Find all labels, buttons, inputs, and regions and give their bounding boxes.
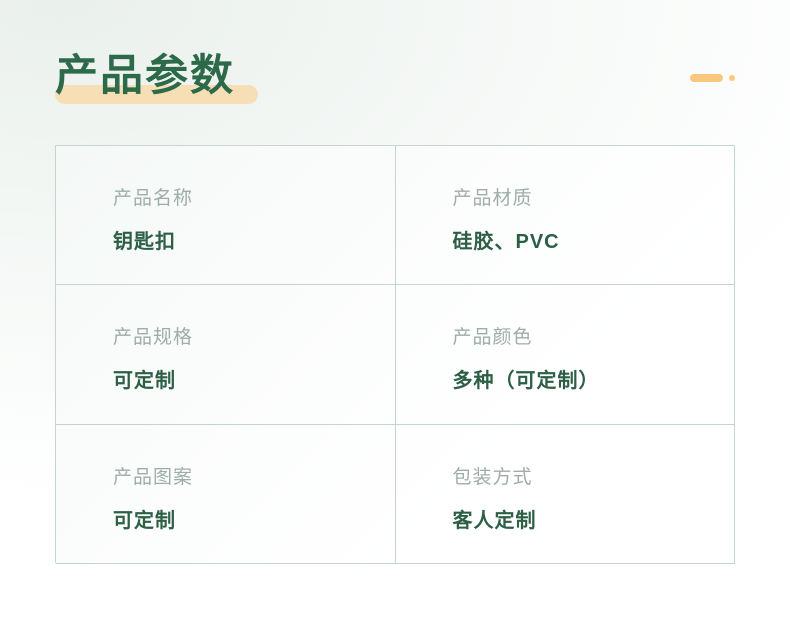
product-spec-table: 产品名称 钥匙扣 产品材质 硅胶、PVC 产品规格 可定制 产品颜色 多种（可定… — [55, 145, 735, 563]
page-header: 产品参数 — [0, 0, 790, 140]
spec-cell-product-pattern: 产品图案 可定制 — [56, 425, 396, 564]
spec-value: 多种（可定制） — [453, 367, 735, 395]
table-row: 产品名称 钥匙扣 产品材质 硅胶、PVC — [56, 146, 735, 285]
spec-value: 可定制 — [113, 507, 395, 535]
spec-cell-product-color: 产品颜色 多种（可定制） — [396, 285, 736, 424]
spec-label: 产品图案 — [113, 465, 395, 491]
spec-label: 产品颜色 — [453, 325, 735, 351]
header-decoration — [690, 72, 735, 84]
spec-value: 可定制 — [113, 367, 395, 395]
spec-cell-product-spec: 产品规格 可定制 — [56, 285, 396, 424]
page-title: 产品参数 — [55, 48, 235, 106]
spec-label: 产品材质 — [453, 186, 735, 212]
spec-label: 包装方式 — [453, 465, 735, 491]
product-spec-page: 产品参数 产品名称 钥匙扣 产品材质 硅胶、PVC 产品规格 可定制 产品 — [0, 0, 790, 630]
table-row: 产品图案 可定制 包装方式 客人定制 — [56, 425, 735, 564]
spec-value: 钥匙扣 — [113, 228, 395, 256]
spec-label: 产品名称 — [113, 186, 395, 212]
accent-dot-icon — [729, 75, 735, 81]
spec-value: 客人定制 — [453, 507, 735, 535]
spec-label: 产品规格 — [113, 325, 395, 351]
spec-cell-product-material: 产品材质 硅胶、PVC — [396, 146, 736, 285]
table-row: 产品规格 可定制 产品颜色 多种（可定制） — [56, 285, 735, 424]
spec-value: 硅胶、PVC — [453, 228, 735, 256]
spec-cell-packaging-method: 包装方式 客人定制 — [396, 425, 736, 564]
accent-bar-icon — [690, 74, 723, 82]
spec-cell-product-name: 产品名称 钥匙扣 — [56, 146, 396, 285]
page-title-text: 产品参数 — [55, 48, 235, 104]
